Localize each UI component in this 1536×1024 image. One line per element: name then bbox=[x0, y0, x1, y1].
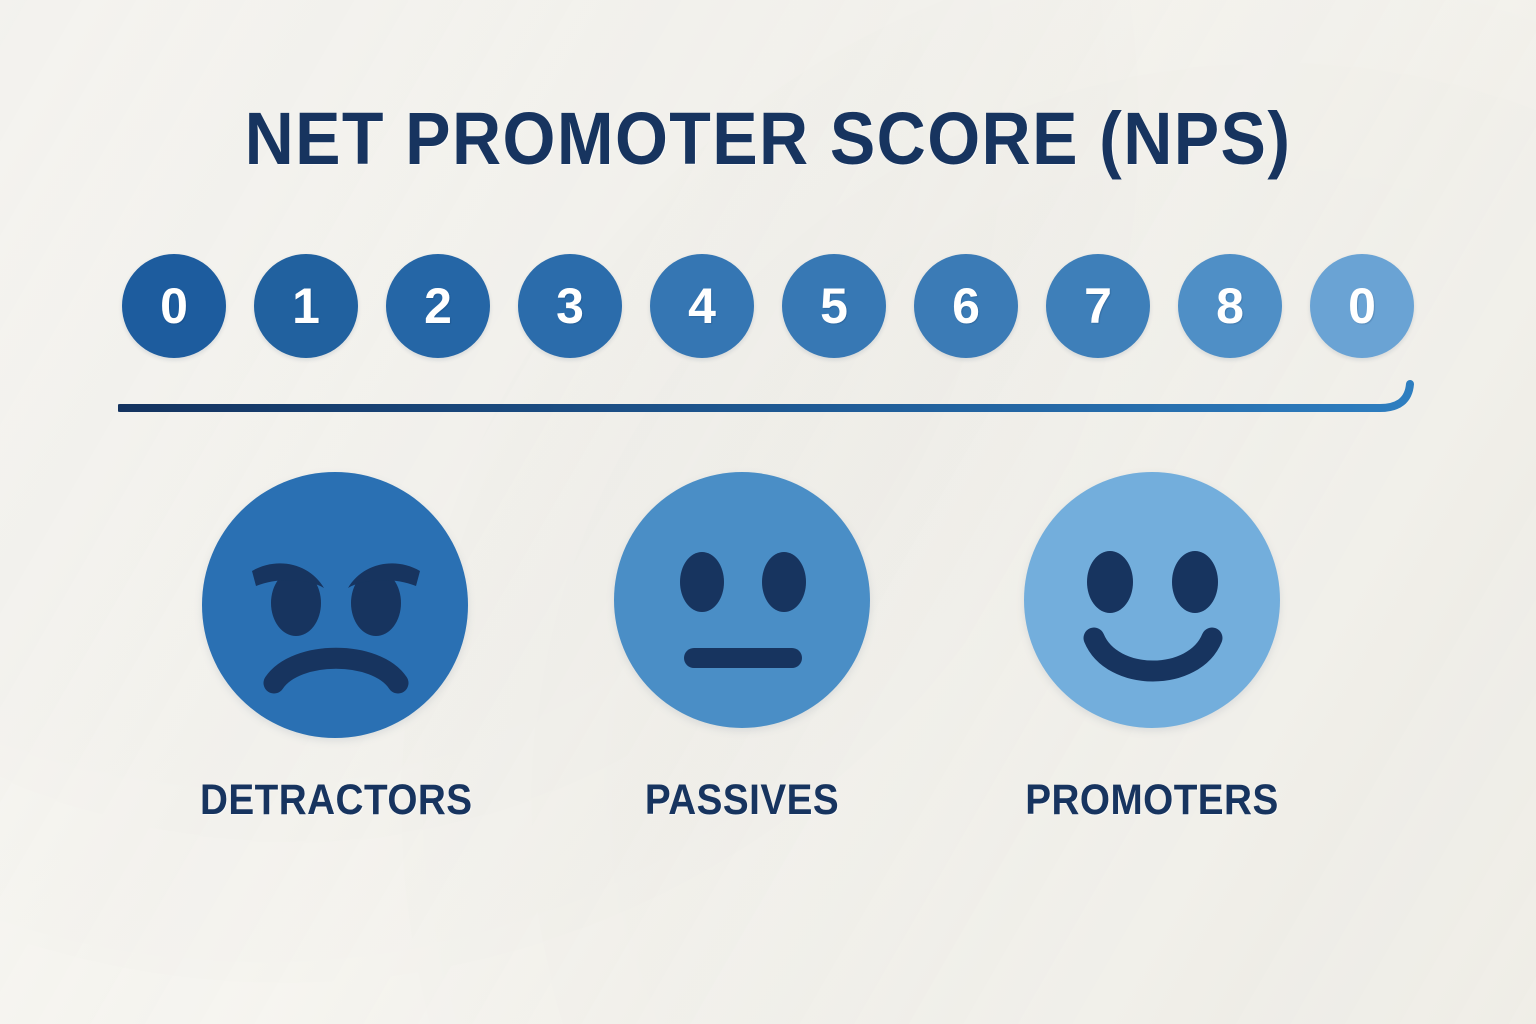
angry-face-icon bbox=[200, 470, 470, 740]
category-passives[interactable] bbox=[592, 470, 892, 730]
score-chip-7[interactable]: 7 bbox=[1046, 254, 1150, 358]
score-chip-1[interactable]: 1 bbox=[254, 254, 358, 358]
category-labels-row: DETRACTORS PASSIVES PROMOTERS bbox=[120, 776, 1420, 834]
score-chip-label: 3 bbox=[556, 281, 584, 331]
label-detractors: DETRACTORS bbox=[200, 776, 470, 825]
score-chip-4[interactable]: 4 bbox=[650, 254, 754, 358]
score-chip-label: 0 bbox=[160, 281, 188, 331]
score-chip-label: 1 bbox=[292, 281, 320, 331]
score-chip-8[interactable]: 8 bbox=[1178, 254, 1282, 358]
infographic-canvas: NET PROMOTER SCORE (NPS) 0 1 2 3 4 5 6 7… bbox=[0, 0, 1536, 1024]
score-chip-3[interactable]: 3 bbox=[518, 254, 622, 358]
score-chip-label: 8 bbox=[1216, 281, 1244, 331]
score-chip-0[interactable]: 0 bbox=[122, 254, 226, 358]
label-promoters: PROMOTERS bbox=[1017, 776, 1287, 825]
score-chip-2[interactable]: 2 bbox=[386, 254, 490, 358]
smiling-face-icon bbox=[1022, 470, 1282, 730]
faces-row bbox=[120, 470, 1420, 740]
score-chip-label: 5 bbox=[820, 281, 848, 331]
score-chip-label: 0 bbox=[1348, 281, 1376, 331]
score-chip-9[interactable]: 0 bbox=[1310, 254, 1414, 358]
label-passives: PASSIVES bbox=[607, 776, 877, 825]
score-chip-label: 6 bbox=[952, 281, 980, 331]
neutral-face-icon bbox=[612, 470, 872, 730]
score-chip-5[interactable]: 5 bbox=[782, 254, 886, 358]
score-chip-label: 7 bbox=[1084, 281, 1112, 331]
score-scale-row: 0 1 2 3 4 5 6 7 8 0 bbox=[122, 254, 1414, 358]
score-chip-label: 2 bbox=[424, 281, 452, 331]
category-promoters[interactable] bbox=[1002, 470, 1302, 730]
score-chip-6[interactable]: 6 bbox=[914, 254, 1018, 358]
score-chip-label: 4 bbox=[688, 281, 716, 331]
page-title: NET PROMOTER SCORE (NPS) bbox=[61, 96, 1474, 181]
scale-divider-line bbox=[118, 378, 1418, 424]
category-detractors[interactable] bbox=[185, 470, 485, 740]
